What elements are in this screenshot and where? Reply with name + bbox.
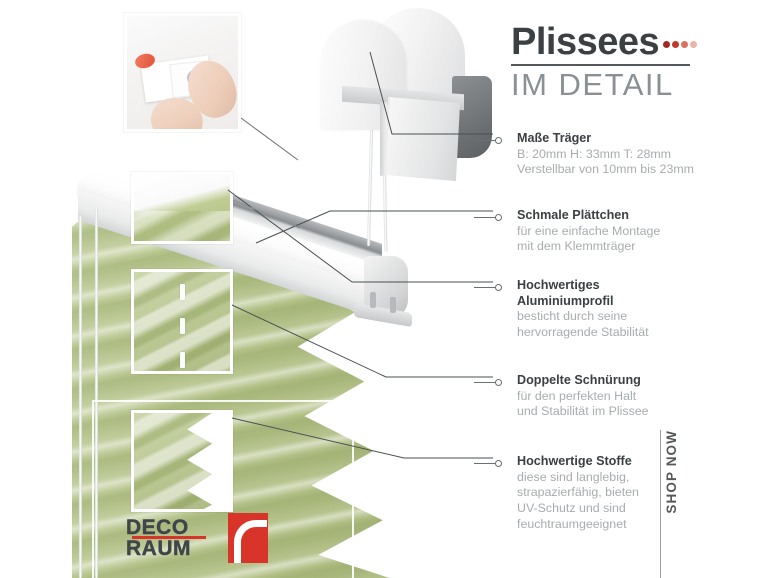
inset-fabric-closeup — [131, 410, 233, 512]
operating-cord — [79, 216, 82, 578]
callout-body-line: diese sind langlebig, — [517, 470, 748, 486]
callout-body-line: feuchtraumgeeignet — [517, 517, 748, 533]
leader-line — [474, 287, 496, 288]
callout-body-line: besticht durch seine — [517, 309, 748, 325]
shop-now-cta[interactable]: SHOP NOW — [660, 430, 700, 578]
callout-body-line: strapazierfähig, bieten — [517, 485, 748, 501]
mounting-bracket-render — [312, 4, 500, 189]
cord-clip — [390, 297, 396, 313]
title-underline — [511, 64, 690, 66]
callout-body-line: Verstellbar von 10mm bis 23mm — [517, 162, 748, 178]
title-dot-3 — [681, 41, 688, 48]
inset-cord-plates-closeup — [131, 269, 233, 374]
leader-line — [474, 217, 496, 218]
title-dot-4 — [690, 41, 697, 48]
title-dot-1 — [663, 41, 670, 48]
page-title: Plissees — [511, 22, 701, 62]
cord-clip — [370, 292, 376, 308]
callout-masse-traeger: Maße Träger B: 20mm H: 33mm T: 28mm Vers… — [500, 131, 748, 178]
callout-aluminiumprofil: Hochwertiges Aluminiumprofil besticht du… — [500, 278, 748, 341]
callout-title: Schmale Plättchen — [517, 208, 748, 224]
bracket-clamp-tab — [384, 97, 460, 181]
callout-body-line: B: 20mm H: 33mm T: 28mm — [517, 147, 748, 163]
callout-body-line: UV-Schutz und sind — [517, 501, 748, 517]
callout-body-line: hervorragende Stabilität — [517, 325, 748, 341]
brand-logo: DECO RAUM — [126, 513, 262, 563]
brand-logo-strike — [132, 536, 206, 539]
cord-plate — [180, 352, 185, 368]
text-panel: Plissees IM DETAIL Maße Träger B: 20mm H… — [500, 0, 770, 578]
callout-marker-icon — [495, 284, 502, 291]
cord-plate — [180, 318, 185, 334]
brand-logo-wordmark: DECO RAUM — [126, 513, 230, 563]
head-rail-assembly — [78, 168, 408, 378]
infographic-canvas: DECO RAUM Pliss — [0, 0, 770, 578]
callout-title: Doppelte Schnürung — [517, 373, 748, 389]
title-dots — [661, 35, 697, 53]
callout-marker-icon — [495, 214, 502, 221]
page-title-text: Plissees — [511, 22, 659, 62]
title-dot-2 — [672, 41, 679, 48]
callout-body-line: für eine einfache Montage — [517, 224, 748, 240]
callout-title: Maße Träger — [517, 131, 748, 147]
leader-line — [474, 382, 496, 383]
callout-schmale-plaettchen: Schmale Plättchen für eine einfache Mont… — [500, 208, 748, 255]
product-illustration: DECO RAUM — [0, 0, 500, 578]
brand-logo-mark — [228, 513, 268, 563]
page-subtitle: IM DETAIL — [511, 67, 701, 103]
title-block: Plissees IM DETAIL — [511, 22, 701, 103]
leader-line — [474, 140, 496, 141]
callout-body-line: für den perfekten Halt — [517, 389, 748, 405]
callout-title: Hochwertige Stoffe — [517, 454, 748, 470]
brand-logo-line-1: DECO — [126, 517, 230, 538]
leader-line — [474, 463, 496, 464]
callout-marker-icon — [495, 379, 502, 386]
callout-body-line: mit dem Klemmträger — [517, 239, 748, 255]
callout-marker-icon — [495, 137, 502, 144]
left-margin — [0, 0, 72, 578]
shop-now-label[interactable]: SHOP NOW — [664, 430, 679, 514]
inset-photo-clip-mounting — [124, 13, 241, 132]
brand-logo-line-2: RAUM — [126, 538, 230, 559]
inset-head-rail-closeup — [131, 172, 233, 244]
callout-body-line: und Stabilität im Plissee — [517, 404, 748, 420]
callout-marker-icon — [495, 460, 502, 467]
callout-title: Aluminiumprofil — [517, 294, 748, 310]
fabric-sawtooth-detail — [134, 413, 212, 512]
callout-hochwertige-stoffe: Hochwertige Stoffe diese sind langlebig,… — [500, 454, 748, 533]
inset-fabric-band — [131, 211, 233, 244]
callout-title: Hochwertiges — [517, 278, 748, 294]
callout-doppelte-schnuerung: Doppelte Schnürung für den perfekten Hal… — [500, 373, 748, 420]
cta-divider — [660, 430, 661, 578]
cord-plate — [180, 284, 185, 300]
